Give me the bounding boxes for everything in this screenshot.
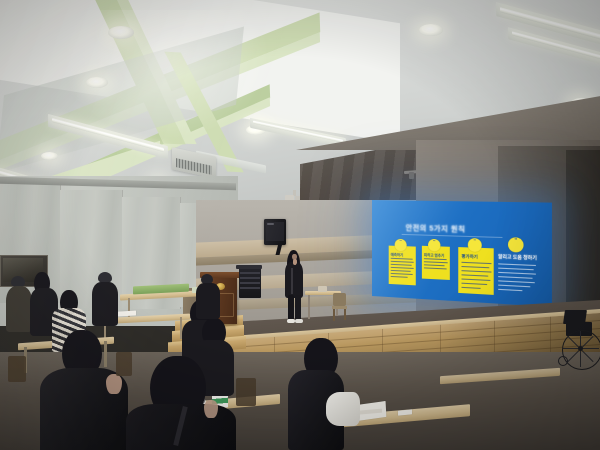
wheelchair-backrest [563,310,587,324]
av-rack-slot [240,287,260,289]
stage-chair-leg [344,309,346,320]
wheelchair-caster [558,356,568,366]
av-rack-top [236,265,262,269]
stage-chair-back [333,293,346,306]
downlight-icon [86,77,108,88]
presenter-shoe [295,319,303,323]
presenter [282,250,306,328]
audience-member [196,274,222,318]
presenter-coat-seam [291,268,293,294]
stage-table-leg [308,295,310,319]
audience-member [126,356,238,450]
audience-white-sleeve [326,392,360,426]
downlight-icon [41,152,58,160]
presenter-shoe [287,319,295,323]
chair-back [116,352,132,376]
spotlight-head-icon [409,172,414,179]
downlight-icon [419,24,443,36]
stage-table-item [318,286,327,292]
screen-glare [372,200,552,307]
wheelchair [556,310,600,372]
stage-chair-leg [333,309,335,321]
audience-hand [204,400,218,418]
audience-member [288,338,362,450]
audience-coat [6,286,32,332]
wheelchair-hub [578,346,583,351]
chair-back [236,378,256,406]
av-rack-slot [240,277,260,279]
audience-member [40,330,132,450]
presenter-leg [295,295,301,321]
audience-member [92,272,122,326]
speaker-label [267,223,274,225]
chair-back [8,356,26,382]
audience-coat [196,283,220,319]
projection-screen: 안전의 5가지 원칙 01 예측하기 02 피하고 멈추기 03 평가하기 [372,200,552,307]
audience-hands [106,374,122,394]
wall-speaker [264,219,286,245]
av-rack-slot [240,272,260,274]
downlight-icon [108,26,134,39]
lecture-hall-photo: 안전의 5가지 원칙 01 예측하기 02 피하고 멈추기 03 평가하기 [0,0,600,450]
av-rack-slot [240,282,260,284]
audience-coat [92,282,118,326]
presenter-leg [288,295,294,321]
ceiling-light-bloom [60,10,270,140]
